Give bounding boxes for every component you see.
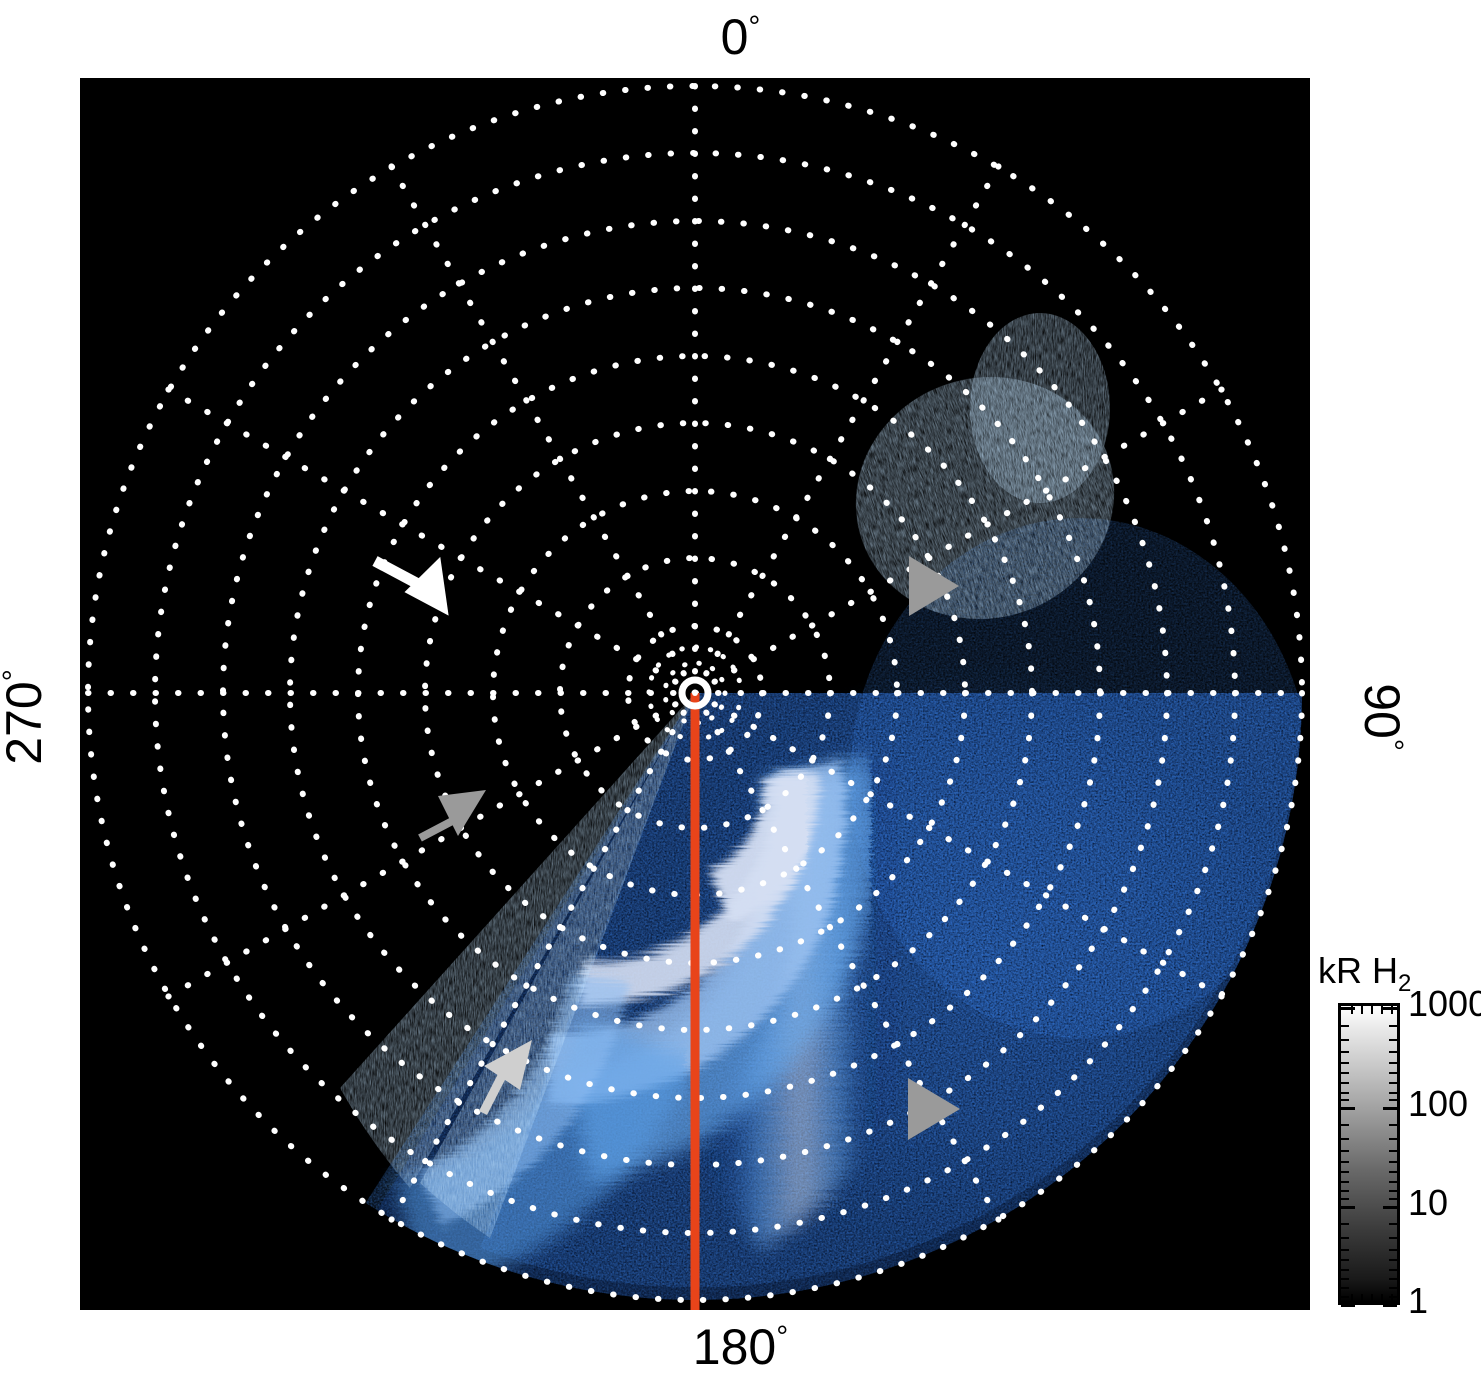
colorbar-minor-tick <box>1389 1278 1397 1280</box>
axis-label-left: 270° <box>0 657 49 777</box>
colorbar-label-1000: 1000 <box>1408 986 1481 1022</box>
colorbar-minor-tick <box>1389 1198 1397 1200</box>
colorbar-minor-tick <box>1341 1259 1349 1261</box>
colorbar-edge-tick <box>1371 1294 1373 1302</box>
degree-symbol-left: ° <box>0 669 30 681</box>
colorbar-minor-tick <box>1341 1269 1349 1271</box>
polar-plot-panel <box>80 78 1310 1310</box>
colorbar-minor-tick <box>1341 1181 1349 1183</box>
colorbar-minor-tick <box>1341 1237 1349 1239</box>
colorbar-tick-10-left <box>1341 1206 1355 1209</box>
colorbar-minor-tick <box>1389 1051 1397 1053</box>
colorbar-minor-tick <box>1341 1051 1349 1053</box>
colorbar-tick-1-right <box>1383 1304 1397 1307</box>
colorbar-minor-tick <box>1389 1025 1397 1027</box>
colorbar-label-10: 10 <box>1408 1185 1448 1221</box>
colorbar-minor-tick <box>1341 1099 1349 1101</box>
colorbar-minor-tick <box>1341 1278 1349 1280</box>
colorbar-minor-tick <box>1389 1161 1397 1163</box>
degree-symbol-bottom: ° <box>776 1320 788 1353</box>
colorbar-minor-tick <box>1389 1124 1397 1126</box>
colorbar-minor-tick <box>1389 1072 1397 1074</box>
colorbar-minor-tick <box>1389 1171 1397 1173</box>
colorbar-gradient <box>1338 1003 1400 1305</box>
axis-label-bottom: 180° <box>0 1322 1481 1372</box>
colorbar-minor-tick <box>1341 1039 1349 1041</box>
colorbar-title-main: kR H <box>1318 950 1398 991</box>
colorbar-minor-tick <box>1389 1190 1397 1192</box>
colorbar-tick-100-left <box>1341 1107 1355 1110</box>
colorbar-minor-tick <box>1389 1237 1397 1239</box>
colorbar-minor-tick <box>1341 1249 1349 1251</box>
polar-aurora-figure: 0° 180° 270° 90° kR H2 <box>0 0 1481 1386</box>
colorbar: kR H2 <box>1316 950 1476 1320</box>
colorbar-minor-tick <box>1341 1190 1349 1192</box>
colorbar-minor-tick <box>1341 1296 1349 1298</box>
colorbar-title: kR H2 <box>1318 950 1411 992</box>
colorbar-minor-tick <box>1341 1171 1349 1173</box>
colorbar-label-100: 100 <box>1408 1086 1468 1122</box>
colorbar-minor-tick <box>1341 1223 1349 1225</box>
colorbar-edge-tick <box>1351 1294 1353 1302</box>
colorbar-minor-tick <box>1341 1124 1349 1126</box>
axis-label-top: 0° <box>0 12 1481 62</box>
colorbar-edge-tick <box>1351 1006 1353 1014</box>
colorbar-minor-tick <box>1341 1161 1349 1163</box>
colorbar-minor-tick <box>1341 1072 1349 1074</box>
colorbar-edge-tick <box>1391 1294 1393 1302</box>
colorbar-minor-tick <box>1389 1062 1397 1064</box>
colorbar-edge-tick <box>1381 1006 1383 1014</box>
colorbar-tick-10-right <box>1383 1206 1397 1209</box>
colorbar-minor-tick <box>1389 1181 1397 1183</box>
pole-center-dot-icon <box>692 690 698 696</box>
colorbar-minor-tick <box>1389 1082 1397 1084</box>
colorbar-edge-tick <box>1371 1006 1373 1014</box>
colorbar-minor-tick <box>1389 1138 1397 1140</box>
colorbar-edge-tick <box>1361 1006 1363 1014</box>
colorbar-minor-tick <box>1389 1259 1397 1261</box>
colorbar-minor-tick <box>1389 1287 1397 1289</box>
degree-symbol-right: ° <box>1376 739 1409 751</box>
polar-plot-canvas <box>80 78 1310 1310</box>
colorbar-tick-1-left <box>1341 1304 1355 1307</box>
colorbar-minor-tick <box>1389 1039 1397 1041</box>
colorbar-minor-tick <box>1389 1269 1397 1271</box>
colorbar-minor-tick <box>1341 1138 1349 1140</box>
colorbar-minor-tick <box>1341 1092 1349 1094</box>
degree-symbol-top: ° <box>748 10 760 43</box>
colorbar-minor-tick <box>1341 1025 1349 1027</box>
colorbar-minor-tick <box>1389 1223 1397 1225</box>
colorbar-minor-tick <box>1389 1092 1397 1094</box>
colorbar-minor-tick <box>1341 1150 1349 1152</box>
colorbar-edge-tick <box>1361 1294 1363 1302</box>
colorbar-minor-tick <box>1341 1287 1349 1289</box>
colorbar-label-1: 1 <box>1408 1283 1428 1319</box>
colorbar-minor-tick <box>1341 1062 1349 1064</box>
axis-label-right: 90° <box>1357 657 1407 777</box>
colorbar-minor-tick <box>1341 1198 1349 1200</box>
colorbar-tick-100-right <box>1383 1107 1397 1110</box>
colorbar-minor-tick <box>1389 1099 1397 1101</box>
colorbar-edge-tick <box>1381 1294 1383 1302</box>
colorbar-edge-tick <box>1391 1006 1393 1014</box>
colorbar-tick-1000-right <box>1383 1007 1397 1010</box>
colorbar-minor-tick <box>1341 1082 1349 1084</box>
colorbar-minor-tick <box>1389 1150 1397 1152</box>
colorbar-minor-tick <box>1389 1249 1397 1251</box>
